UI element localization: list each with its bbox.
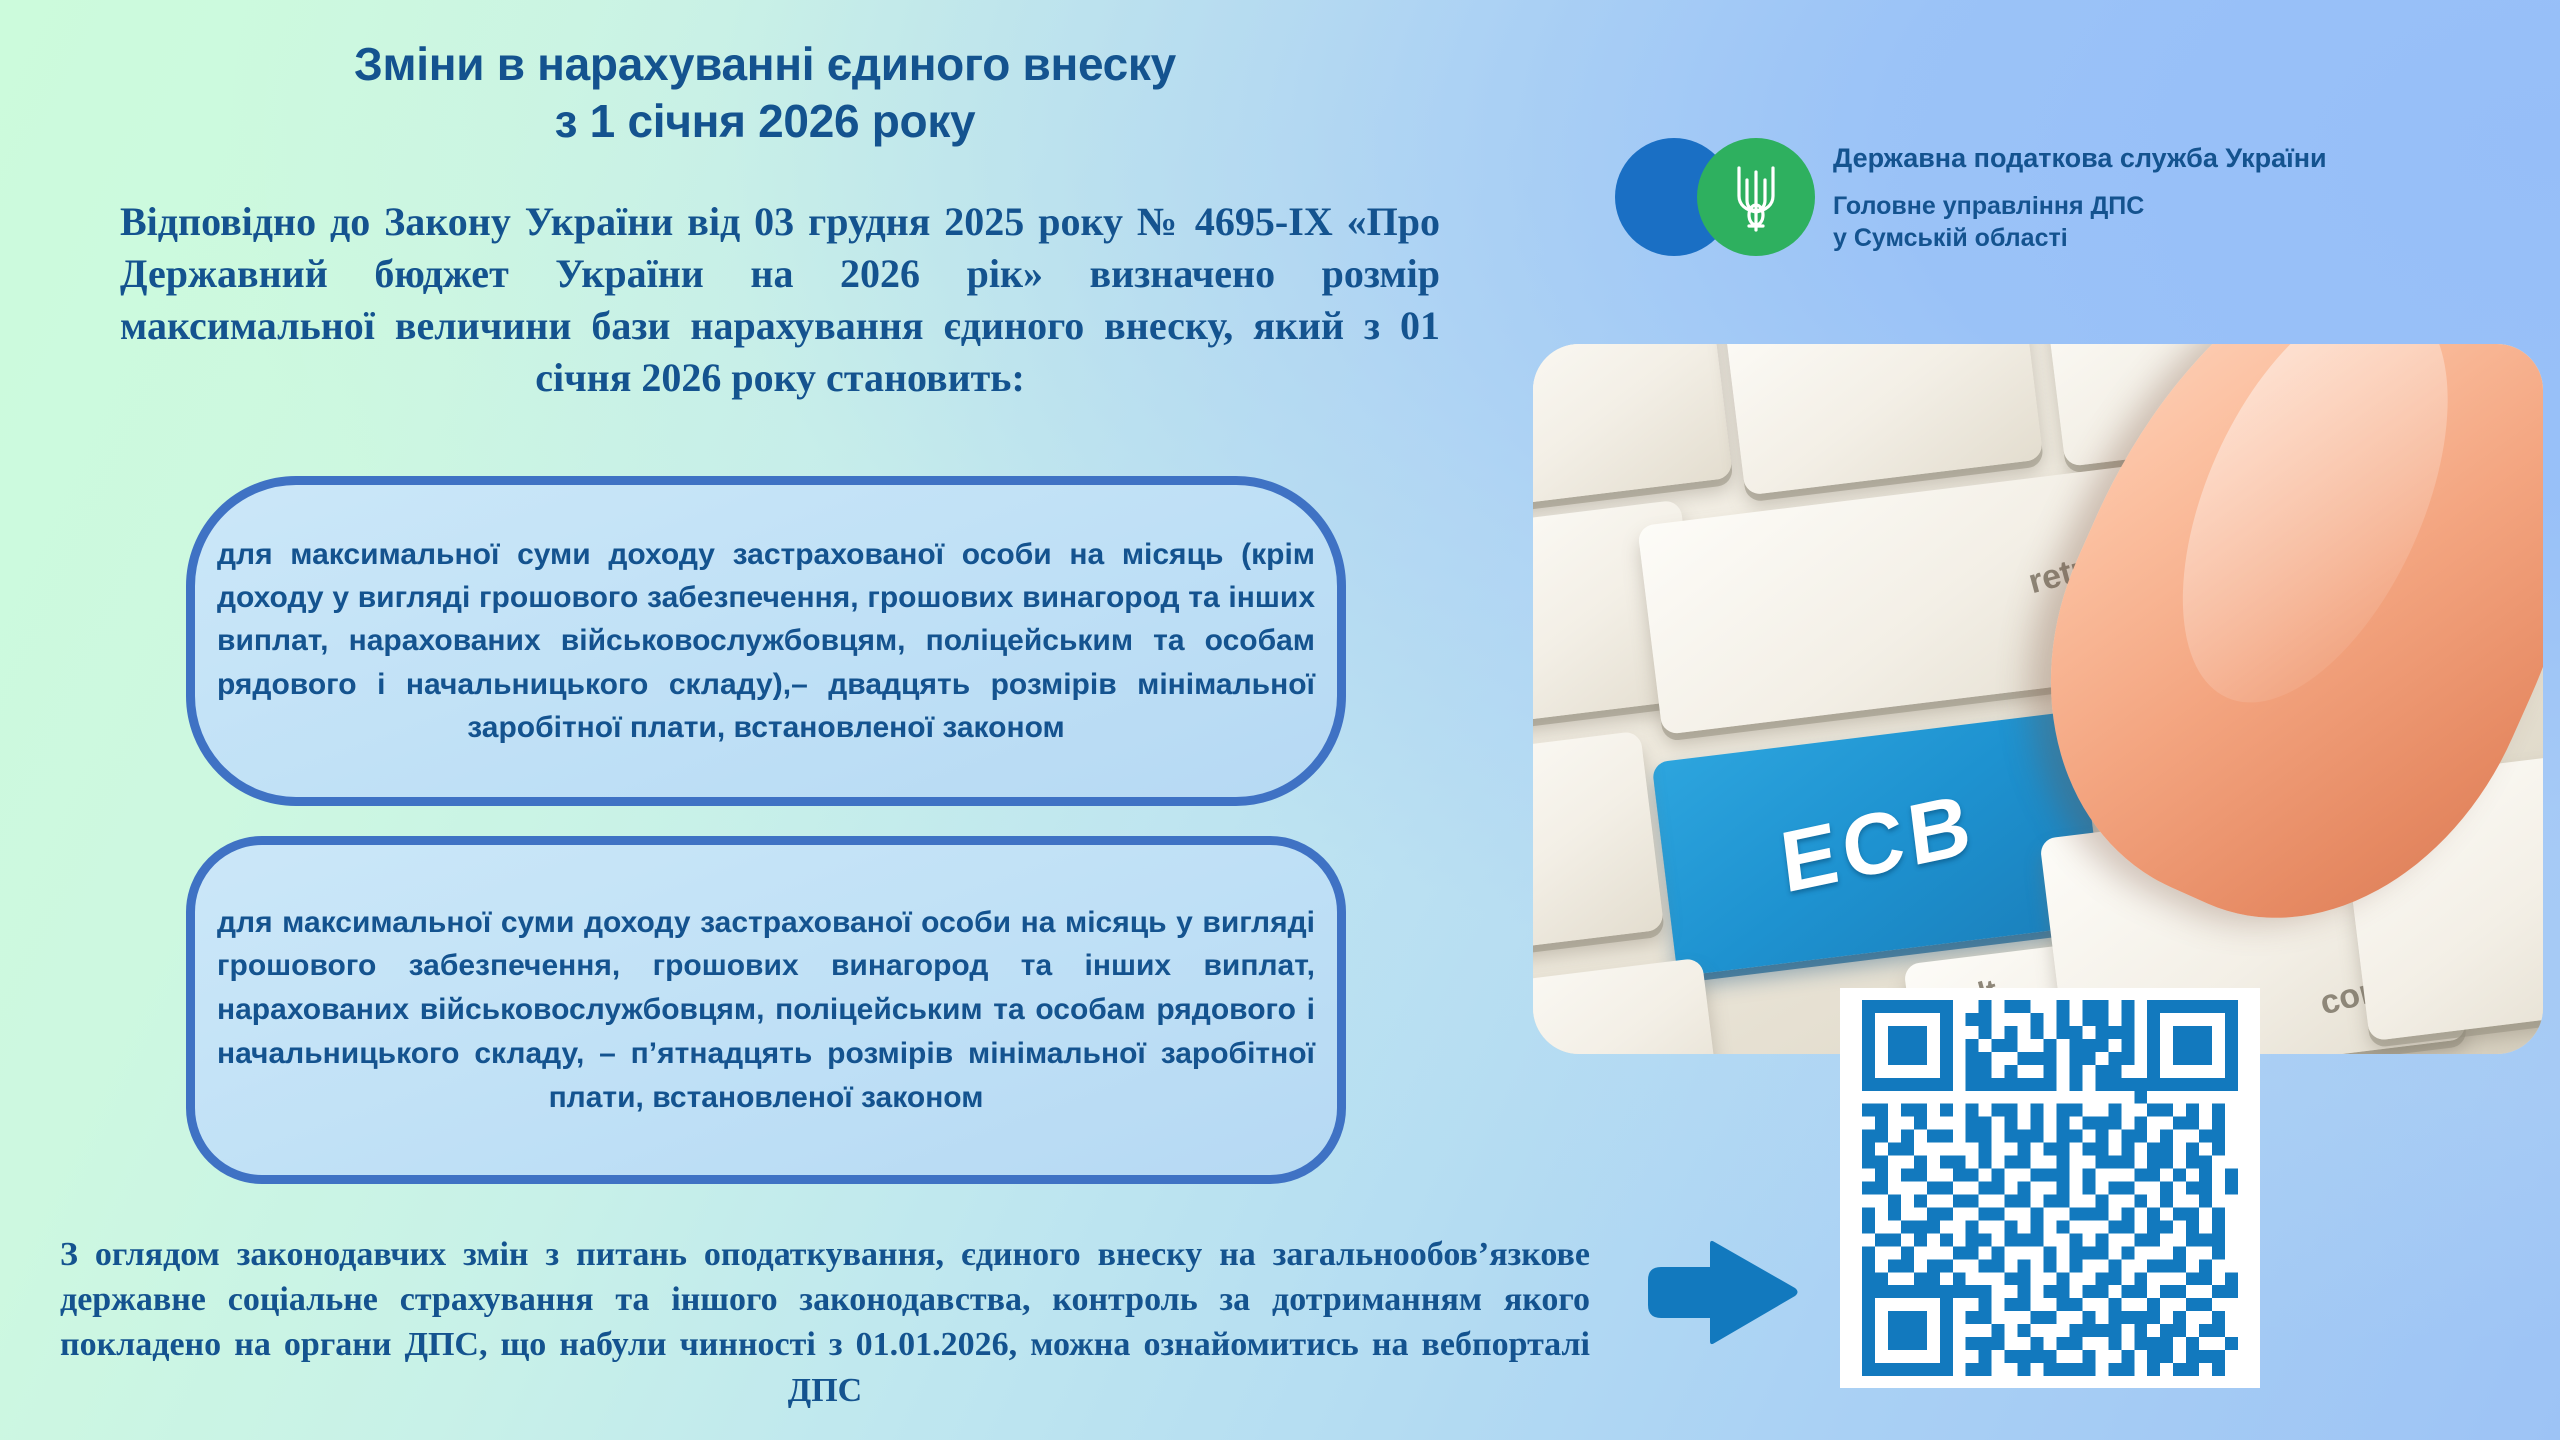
callout-box-2-text: для максимальної суми доходу застрахован… [195,901,1337,1120]
arrow-right-icon [1648,1240,1798,1345]
agency-department-line-1: Головне управління ДПС [1833,190,2327,223]
callout-box-max-income-military: для максимальної суми доходу застрахован… [186,836,1346,1184]
logo-green-circle [1697,138,1815,256]
intro-paragraph: Відповідно до Закону України від 03 груд… [120,196,1440,404]
qr-code-image [1852,1000,2248,1376]
page-title-line-2: з 1 січня 2026 року [0,93,1530,150]
ukraine-trident-icon [1728,160,1784,234]
agency-logo-block: Державна податкова служба України Головн… [1615,138,2327,256]
page-title: Зміни в нарахуванні єдиного внеску з 1 с… [0,36,1530,149]
callout-box-1-text: для максимальної суми доходу застрахован… [195,533,1337,749]
footer-note: З оглядом законодавчих змін з питань опо… [60,1232,1590,1413]
page-title-line-1: Зміни в нарахуванні єдиного внеску [0,36,1530,93]
callout-box-max-income-general: для максимальної суми доходу застрахован… [186,476,1346,806]
agency-text: Державна податкова служба України Головн… [1833,138,2327,255]
key-label-ecb: ECB [1661,749,2095,937]
agency-department-line-2: у Сумській області [1833,222,2327,255]
keyboard-ecb-key-photo: § return ECB ? alt control [1533,344,2543,1054]
agency-department: Головне управління ДПС у Сумській област… [1833,190,2327,255]
logo-circles [1615,138,1815,256]
qr-code[interactable] [1840,988,2260,1388]
agency-name: Державна податкова служба України [1833,142,2327,176]
